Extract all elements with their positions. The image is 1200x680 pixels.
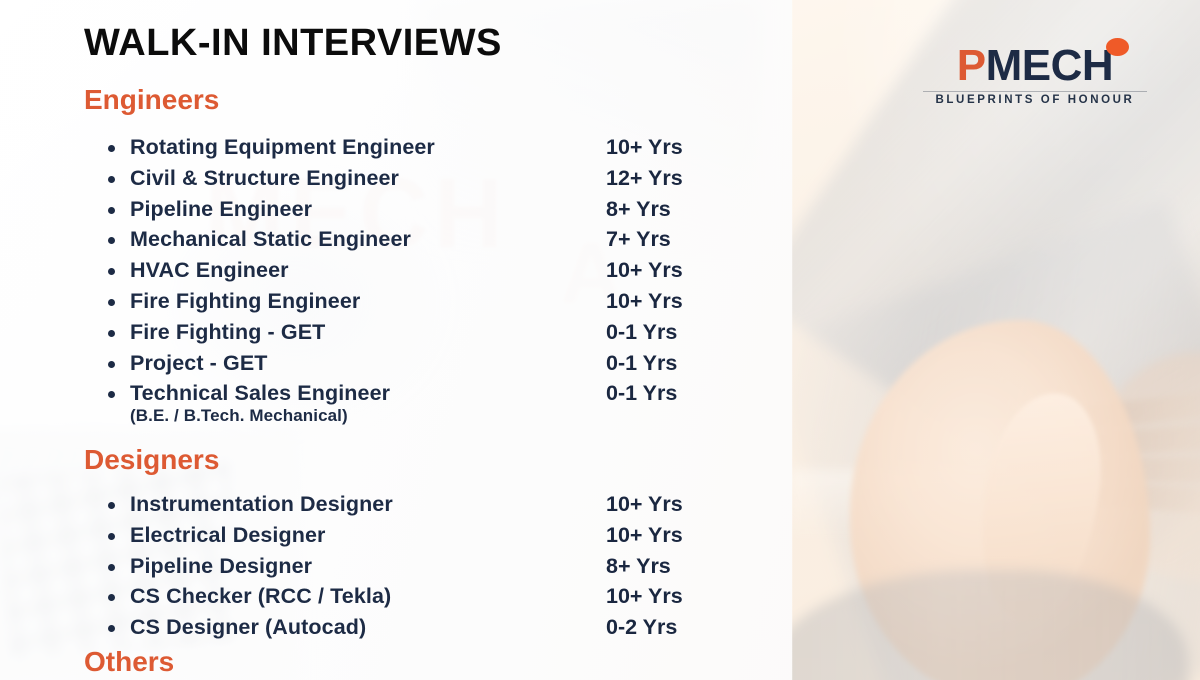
job-experience: 0-2 Yrs [606, 612, 677, 642]
job-experience: 10+ Yrs [606, 286, 683, 316]
job-role: HVAC Engineer [130, 255, 289, 285]
job-experience: 10+ Yrs [606, 489, 683, 519]
list-item: Electrical Designer 10+ Yrs [98, 520, 778, 551]
list-item: Pipeline Engineer 8+ Yrs [98, 194, 778, 225]
job-role: Technical Sales Engineer [130, 378, 390, 408]
designers-job-list: Instrumentation Designer 10+ Yrs Electri… [98, 489, 778, 643]
job-role: CS Checker (RCC / Tekla) [130, 581, 391, 611]
logo-divider [923, 91, 1147, 92]
walk-in-interviews-poster: PMECH BLUEPRINTS OF HONOUR MECH A WALK-I… [0, 0, 1200, 680]
bullet-icon [108, 533, 115, 540]
engineers-job-list: Rotating Equipment Engineer 10+ Yrs Civi… [98, 132, 778, 409]
bullet-icon [108, 145, 115, 152]
bullet-icon [108, 176, 115, 183]
job-experience: 7+ Yrs [606, 224, 671, 254]
pmech-logo: PMECH BLUEPRINTS OF HONOUR [920, 44, 1150, 106]
page-title: WALK-IN INTERVIEWS [84, 22, 502, 65]
logo-letter-p: P [957, 41, 986, 90]
job-role: Civil & Structure Engineer [130, 163, 399, 193]
list-item: Project - GET 0-1 Yrs [98, 348, 778, 379]
job-experience: 8+ Yrs [606, 551, 671, 581]
job-role: Instrumentation Designer [130, 489, 393, 519]
list-item: HVAC Engineer 10+ Yrs [98, 255, 778, 286]
list-item: Rotating Equipment Engineer 10+ Yrs [98, 132, 778, 163]
job-experience: 12+ Yrs [606, 163, 683, 193]
logo-letters-mech: MECH [986, 41, 1114, 90]
job-experience: 0-1 Yrs [606, 317, 677, 347]
bullet-icon [108, 625, 115, 632]
bullet-icon [108, 361, 115, 368]
bullet-icon [108, 207, 115, 214]
bullet-icon [108, 237, 115, 244]
job-experience: 0-1 Yrs [606, 348, 677, 378]
list-item: CS Designer (Autocad) 0-2 Yrs [98, 612, 778, 643]
list-item: Civil & Structure Engineer 12+ Yrs [98, 163, 778, 194]
job-experience: 10+ Yrs [606, 581, 683, 611]
job-experience: 10+ Yrs [606, 255, 683, 285]
list-item: Instrumentation Designer 10+ Yrs [98, 489, 778, 520]
logo-tagline: BLUEPRINTS OF HONOUR [920, 94, 1150, 106]
bullet-icon [108, 502, 115, 509]
list-item: Fire Fighting Engineer 10+ Yrs [98, 286, 778, 317]
section-heading-designers: Designers [84, 444, 219, 476]
bullet-icon [108, 391, 115, 398]
list-item: Technical Sales Engineer 0-1 Yrs [98, 378, 778, 409]
bullet-icon [108, 268, 115, 275]
job-role: Mechanical Static Engineer [130, 224, 411, 254]
job-experience: 10+ Yrs [606, 132, 683, 162]
job-role: Fire Fighting Engineer [130, 286, 360, 316]
section-heading-others: Others [84, 646, 174, 678]
list-item: Fire Fighting - GET 0-1 Yrs [98, 317, 778, 348]
section-heading-engineers: Engineers [84, 84, 219, 116]
job-experience: 10+ Yrs [606, 520, 683, 550]
qualification-note: (B.E. / B.Tech. Mechanical) [130, 406, 348, 426]
job-role: Pipeline Engineer [130, 194, 312, 224]
list-item: Mechanical Static Engineer 7+ Yrs [98, 224, 778, 255]
job-experience: 8+ Yrs [606, 194, 671, 224]
list-item: CS Checker (RCC / Tekla) 10+ Yrs [98, 581, 778, 612]
bullet-icon [108, 299, 115, 306]
bullet-icon [108, 564, 115, 571]
logo-wordmark: PMECH [957, 44, 1113, 88]
bullet-icon [108, 594, 115, 601]
job-role: Fire Fighting - GET [130, 317, 325, 347]
job-role: CS Designer (Autocad) [130, 612, 366, 642]
orange-dot-icon [1106, 38, 1129, 56]
job-role: Electrical Designer [130, 520, 326, 550]
bullet-icon [108, 330, 115, 337]
list-item: Pipeline Designer 8+ Yrs [98, 551, 778, 582]
job-role: Rotating Equipment Engineer [130, 132, 435, 162]
job-role: Pipeline Designer [130, 551, 312, 581]
job-role: Project - GET [130, 348, 268, 378]
job-experience: 0-1 Yrs [606, 378, 677, 408]
